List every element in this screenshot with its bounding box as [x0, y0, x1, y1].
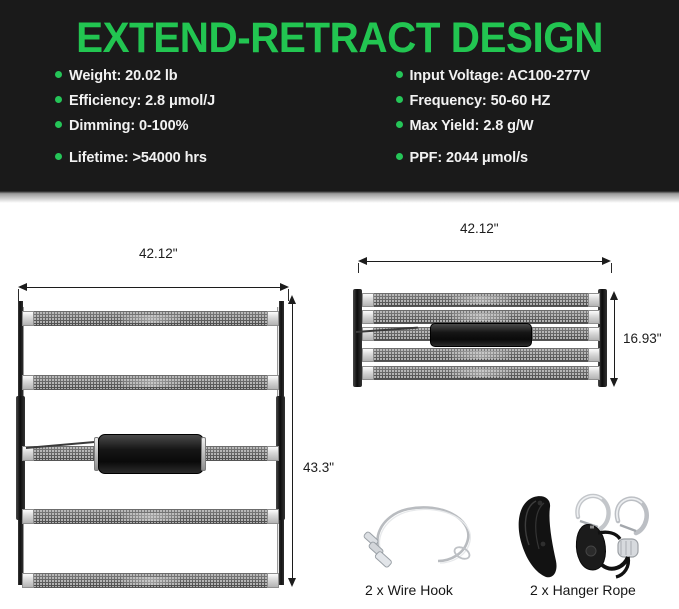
spec-text: Input Voltage: AC100-277V [410, 68, 590, 84]
driver-cap-right [201, 437, 206, 471]
spec-item-weight: Weight: 20.02 lb [55, 68, 340, 93]
extended-width-arrow [18, 283, 289, 292]
witness-line [358, 263, 359, 273]
spec-item-ppf: PPF: 2044 μmol/s [396, 150, 679, 175]
led-bar [22, 375, 279, 390]
bullet-icon [396, 96, 403, 103]
product-diagrams: 42.12" 43.3" [0, 203, 679, 609]
spec-text: Lifetime: >54000 hrs [69, 150, 207, 166]
rail-left-collapsed [353, 289, 362, 387]
accessory-label-hanger-rope: 2 x Hanger Rope [530, 582, 636, 598]
page-title: EXTEND-RETRACT DESIGN [20, 14, 658, 63]
retracted-width-arrow [358, 257, 611, 266]
bullet-icon [55, 96, 62, 103]
header-fade-divider [0, 191, 679, 203]
extended-height-arrow [288, 295, 297, 587]
bullet-icon [396, 121, 403, 128]
spec-item-lifetime: Lifetime: >54000 hrs [55, 150, 340, 175]
spec-text: Max Yield: 2.8 g/W [410, 118, 534, 134]
spec-item-dimming: Dimming: 0-100% [55, 118, 340, 143]
spec-item-max-yield: Max Yield: 2.8 g/W [396, 118, 679, 143]
extended-width-label: 42.12" [139, 246, 178, 261]
bullet-icon [55, 71, 62, 78]
led-bar [22, 509, 279, 524]
led-bar [22, 573, 279, 588]
led-bar [362, 293, 600, 307]
wire-hook-illustration [350, 491, 490, 581]
spec-item-frequency: Frequency: 50-60 HZ [396, 93, 679, 118]
bullet-icon [396, 153, 403, 160]
hanger-rope-illustration [512, 487, 662, 582]
driver-module [98, 434, 204, 474]
witness-line [18, 289, 19, 301]
spec-text: Dimming: 0-100% [69, 118, 188, 134]
led-bar [362, 348, 600, 362]
bullet-icon [55, 121, 62, 128]
driver-module [430, 323, 532, 347]
spec-text: Frequency: 50-60 HZ [410, 93, 551, 109]
bullet-icon [55, 153, 62, 160]
specs-column-left: Weight: 20.02 lb Efficiency: 2.8 μmol/J … [0, 68, 340, 178]
specifications-list: Weight: 20.02 lb Efficiency: 2.8 μmol/J … [0, 68, 679, 178]
retracted-height-arrow [610, 291, 619, 387]
led-bar [362, 366, 600, 380]
led-bar [362, 310, 600, 324]
specs-column-right: Input Voltage: AC100-277V Frequency: 50-… [340, 68, 679, 178]
spec-item-efficiency: Efficiency: 2.8 μmol/J [55, 93, 340, 118]
bullet-icon [396, 71, 403, 78]
spec-text: Weight: 20.02 lb [69, 68, 178, 84]
witness-line [288, 289, 289, 301]
extended-height-label: 43.3" [303, 460, 334, 475]
spec-text: PPF: 2044 μmol/s [410, 150, 529, 166]
accessory-label-wire-hook: 2 x Wire Hook [365, 582, 453, 598]
retracted-height-label: 16.93" [623, 331, 662, 346]
spec-item-input-voltage: Input Voltage: AC100-277V [396, 68, 679, 93]
spec-text: Efficiency: 2.8 μmol/J [69, 93, 215, 109]
retracted-width-label: 42.12" [460, 221, 499, 236]
witness-line [611, 263, 612, 273]
led-bar [22, 311, 279, 326]
